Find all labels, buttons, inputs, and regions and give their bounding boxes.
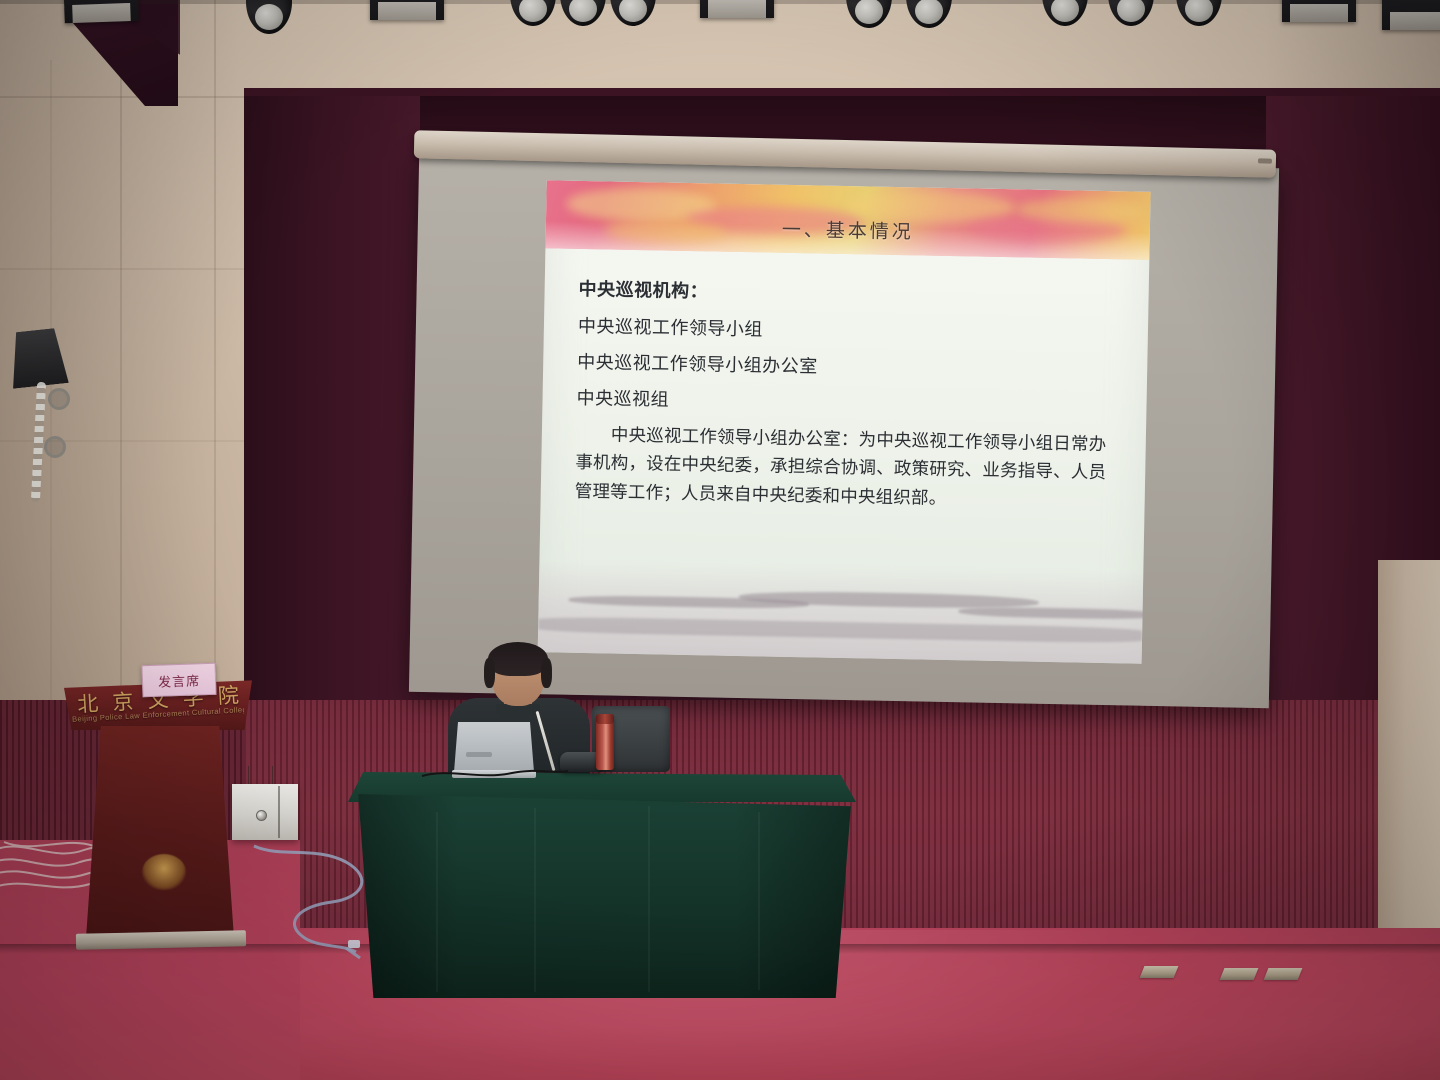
- spotlight-icon: [1042, 0, 1088, 26]
- lecture-hall-photo: 一、基本情况 中央巡视机构： 中央巡视工作领导小组 中央巡视工作领导小组办公室 …: [0, 0, 1440, 1080]
- slide-body: 中央巡视机构： 中央巡视工作领导小组 中央巡视工作领导小组办公室 中央巡视组 中…: [541, 248, 1150, 516]
- wall-sconce-lamp-icon: [10, 330, 66, 386]
- slide-banner: 一、基本情况: [545, 180, 1150, 260]
- thermos-cap: [596, 714, 614, 724]
- floor-outlet-plate: [1264, 968, 1303, 980]
- podium-column: [86, 726, 234, 938]
- thermos-flask: [596, 714, 614, 770]
- stage-lighting-rig: [0, 0, 1440, 62]
- fresnel-light-icon: [1382, 0, 1440, 30]
- speaker-hair-right: [541, 658, 552, 688]
- spotlight-icon: [560, 0, 606, 26]
- presentation-slide: 一、基本情况 中央巡视机构： 中央巡视工作领导小组 中央巡视工作领导小组办公室 …: [538, 180, 1151, 664]
- spotlight-icon: [610, 0, 656, 26]
- podium-base-trim: [76, 930, 246, 950]
- sconce-ring-upper: [48, 388, 70, 410]
- spotlight-icon: [846, 0, 892, 28]
- slide-bullet-3: 中央巡视组: [576, 384, 1120, 420]
- spotlight-icon: [1176, 0, 1222, 26]
- spotlight-icon: [1108, 0, 1154, 26]
- floor-outlet-plate: [1220, 968, 1259, 980]
- cabinet-lock-icon[interactable]: [256, 810, 267, 821]
- spotlight-icon: [246, 0, 292, 34]
- fresnel-light-icon: [63, 0, 138, 23]
- spotlight-icon: [510, 0, 556, 26]
- slide-bullet-1: 中央巡视工作领导小组: [578, 312, 1122, 348]
- speaker-hair: [488, 642, 548, 676]
- slide-landscape-graphic: [538, 560, 1144, 664]
- fresnel-light-icon: [700, 0, 774, 18]
- laptop-logo: [466, 752, 492, 757]
- conference-table: [348, 772, 856, 998]
- sconce-ring-lower: [44, 436, 66, 458]
- fresnel-light-icon: [1282, 0, 1356, 22]
- right-wall-pilaster: [1378, 560, 1440, 980]
- proscenium-left-column: [244, 96, 420, 786]
- speaker-podium: 北 京 文 学 院 Beijing Police Law Enforcement…: [64, 676, 252, 966]
- floor-outlet-plate: [1140, 966, 1179, 978]
- speaker-collar: [496, 704, 540, 718]
- spotlight-icon: [906, 0, 952, 28]
- podium-emblem-icon: [142, 854, 186, 890]
- cabinet-door-seam: [278, 786, 280, 838]
- desk-cable: [420, 764, 570, 780]
- projection-screen: 一、基本情况 中央巡视机构： 中央巡视工作领导小组 中央巡视工作领导小组办公室 …: [409, 152, 1279, 708]
- podium-sign: 发言席: [141, 663, 216, 698]
- slide-bullet-2: 中央巡视工作领导小组办公室: [577, 348, 1121, 384]
- table-cloth-shading: [348, 794, 856, 998]
- slide-paragraph: 中央巡视工作领导小组办公室：为中央巡视工作领导小组日常办事机构，设在中央纪委，承…: [575, 420, 1121, 515]
- speaker-hair-left: [484, 658, 495, 688]
- roller-end-cap: [1258, 158, 1272, 163]
- lampshade: [7, 327, 69, 389]
- fresnel-light-icon: [370, 0, 444, 20]
- slide-lead-line: 中央巡视机构：: [578, 275, 1122, 311]
